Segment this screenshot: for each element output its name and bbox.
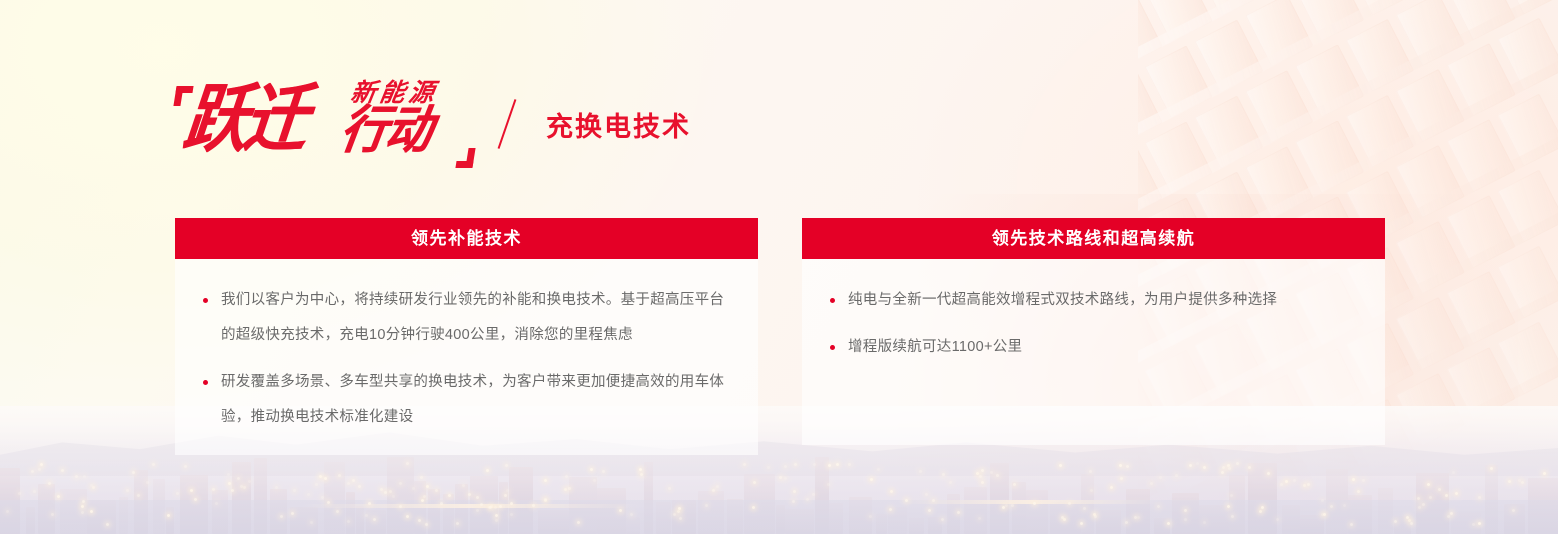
logo-subtitle-action: 行动 xyxy=(337,104,435,156)
feature-card-body: 我们以客户为中心，将持续研发行业领先的补能和换电技术。基于超高压平台的超级快充技… xyxy=(175,259,758,455)
feature-bullet-item: 研发覆盖多场景、多车型共享的换电技术，为客户带来更加便捷高效的用车体验，推动换电… xyxy=(201,365,732,435)
feature-card-title: 领先技术路线和超高续航 xyxy=(802,218,1385,259)
banner-header: 跃迁 新能源 行动 充换电技术 xyxy=(175,78,691,170)
feature-card-title: 领先补能技术 xyxy=(175,218,758,259)
banner-content: 跃迁 新能源 行动 充换电技术 领先补能技术我们以客户为中心，将持续研发行业领先… xyxy=(0,0,1558,534)
feature-bullet-list: 纯电与全新一代超高能效增程式双技术路线，为用户提供多种选择增程版续航可达1100… xyxy=(828,283,1359,365)
feature-bullet-list: 我们以客户为中心，将持续研发行业领先的补能和换电技术。基于超高压平台的超级快充技… xyxy=(201,283,732,435)
feature-bullet-item: 增程版续航可达1100+公里 xyxy=(828,330,1359,365)
logo-main-text: 跃迁 xyxy=(180,82,309,156)
feature-bullet-item: 纯电与全新一代超高能效增程式双技术路线，为用户提供多种选择 xyxy=(828,283,1359,318)
brand-logo: 跃迁 新能源 行动 xyxy=(175,78,480,170)
feature-card: 领先技术路线和超高续航纯电与全新一代超高能效增程式双技术路线，为用户提供多种选择… xyxy=(802,218,1385,455)
banner-stage: 跃迁 新能源 行动 充换电技术 领先补能技术我们以客户为中心，将持续研发行业领先… xyxy=(0,0,1558,534)
slash-divider-icon xyxy=(498,99,517,149)
logo-bracket-close-icon xyxy=(455,148,475,168)
feature-card-body: 纯电与全新一代超高能效增程式双技术路线，为用户提供多种选择增程版续航可达1100… xyxy=(802,259,1385,445)
page-title: 充换电技术 xyxy=(546,105,691,144)
feature-card: 领先补能技术我们以客户为中心，将持续研发行业领先的补能和换电技术。基于超高压平台… xyxy=(175,218,758,455)
feature-card-list: 领先补能技术我们以客户为中心，将持续研发行业领先的补能和换电技术。基于超高压平台… xyxy=(175,218,1385,455)
feature-bullet-item: 我们以客户为中心，将持续研发行业领先的补能和换电技术。基于超高压平台的超级快充技… xyxy=(201,283,732,353)
